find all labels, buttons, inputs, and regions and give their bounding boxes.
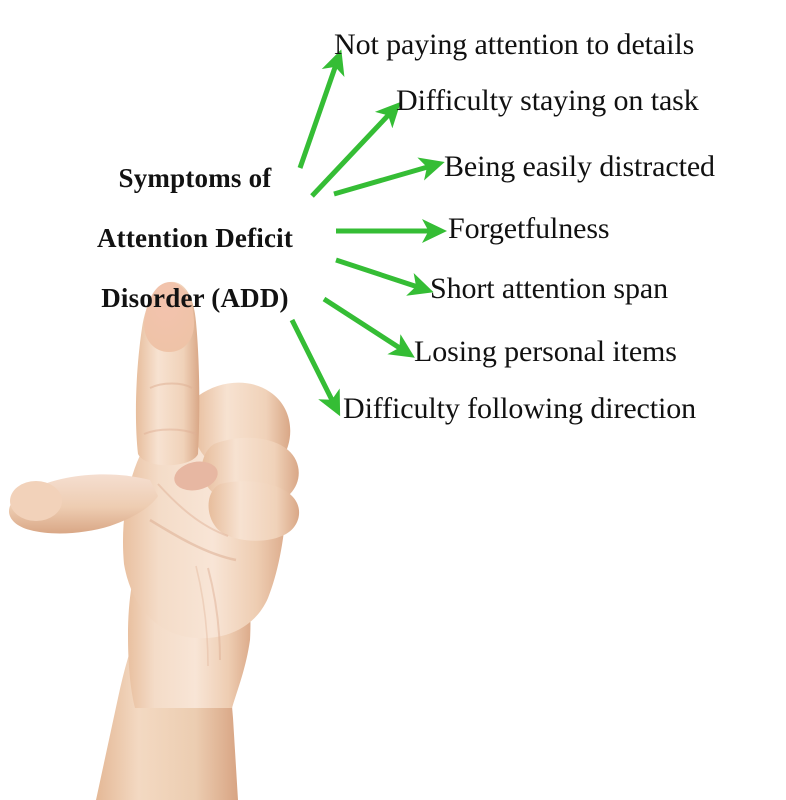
title-line-2: Attention Deficit [60, 208, 330, 268]
symptom-label-4: Forgetfulness [448, 214, 609, 244]
symptom-label-5: Short attention span [430, 274, 668, 304]
thumb-tip [10, 481, 62, 521]
symptom-label-1: Not paying attention to details [334, 30, 694, 60]
title-line-1: Symptoms of [60, 148, 330, 208]
arrow-to-symptom-3 [334, 164, 438, 194]
title-line-3: Disorder (ADD) [60, 268, 330, 328]
symptom-label-7: Difficulty following direction [343, 394, 696, 424]
symptom-label-2: Difficulty staying on task [396, 86, 699, 116]
arrow-to-symptom-5 [336, 260, 427, 290]
diagram-title: Symptoms of Attention Deficit Disorder (… [60, 148, 330, 328]
infographic-canvas: Symptoms of Attention Deficit Disorder (… [0, 0, 786, 800]
hand-pointing-up-illustration [0, 268, 312, 800]
symptom-label-3: Being easily distracted [444, 152, 715, 182]
arrow-to-symptom-6 [324, 299, 409, 354]
symptom-label-6: Losing personal items [414, 337, 677, 367]
